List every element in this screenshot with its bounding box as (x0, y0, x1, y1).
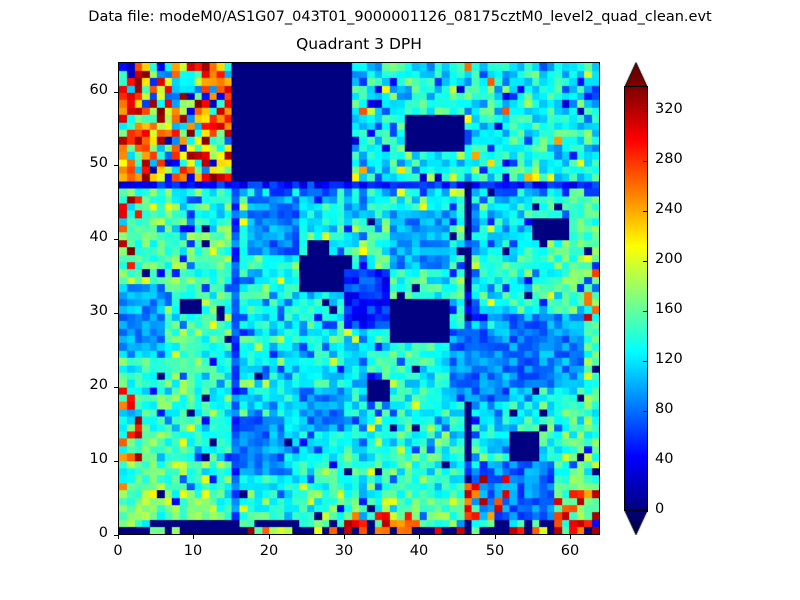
colorbar-tick-mark (643, 411, 648, 412)
y-tick-label: 10 (56, 451, 108, 467)
colorbar-tick-label: 80 (655, 401, 673, 417)
x-tick-label: 0 (96, 543, 140, 559)
x-tick-mark (193, 535, 194, 539)
colorbar-tick-mark (643, 461, 648, 462)
x-tick-label: 20 (247, 543, 291, 559)
colorbar-tick-label: 40 (655, 451, 673, 467)
heatmap-axes[interactable] (118, 62, 600, 535)
x-tick-label: 50 (473, 543, 517, 559)
colorbar-tick-mark (643, 161, 648, 162)
page-title: Quadrant 3 DPH (118, 35, 600, 53)
colorbar-tick-label: 120 (655, 351, 683, 367)
x-tick-label: 30 (322, 543, 366, 559)
colorbar-tick-mark (643, 361, 648, 362)
colorbar-tick-label: 280 (655, 151, 683, 167)
x-tick-mark (495, 535, 496, 539)
y-tick-label: 50 (56, 155, 108, 171)
x-tick-mark (118, 535, 119, 539)
x-tick-mark (419, 535, 420, 539)
colorbar[interactable] (624, 62, 648, 535)
x-tick-mark (570, 535, 571, 539)
y-tick-mark (114, 535, 118, 536)
y-tick-label: 0 (56, 525, 108, 541)
colorbar-tick-mark (643, 111, 648, 112)
y-tick-label: 40 (56, 229, 108, 245)
x-tick-label: 40 (397, 543, 441, 559)
colorbar-tick-label: 0 (655, 501, 664, 517)
y-tick-mark (114, 461, 118, 462)
x-tick-mark (269, 535, 270, 539)
y-tick-mark (114, 165, 118, 166)
data-file-label: Data file: modeM0/AS1G07_043T01_90000011… (0, 9, 800, 25)
y-tick-label: 30 (56, 303, 108, 319)
colorbar-tick-mark (643, 511, 648, 512)
colorbar-gradient (624, 86, 648, 511)
heatmap-image (119, 63, 599, 534)
y-tick-mark (114, 239, 118, 240)
colorbar-tick-label: 320 (655, 101, 683, 117)
x-tick-label: 60 (548, 543, 592, 559)
colorbar-tick-label: 240 (655, 201, 683, 217)
figure-canvas: Data file: modeM0/AS1G07_043T01_90000011… (0, 0, 800, 600)
x-tick-label: 10 (171, 543, 215, 559)
y-tick-label: 20 (56, 377, 108, 393)
colorbar-tick-mark (643, 261, 648, 262)
colorbar-tick-mark (643, 211, 648, 212)
y-tick-mark (114, 313, 118, 314)
y-tick-mark (114, 387, 118, 388)
y-tick-label: 60 (56, 82, 108, 98)
x-tick-mark (344, 535, 345, 539)
colorbar-over-arrow-icon (624, 62, 648, 87)
colorbar-tick-label: 160 (655, 301, 683, 317)
y-tick-mark (114, 92, 118, 93)
colorbar-tick-mark (643, 311, 648, 312)
colorbar-under-arrow-icon (624, 510, 648, 535)
colorbar-tick-label: 200 (655, 251, 683, 267)
